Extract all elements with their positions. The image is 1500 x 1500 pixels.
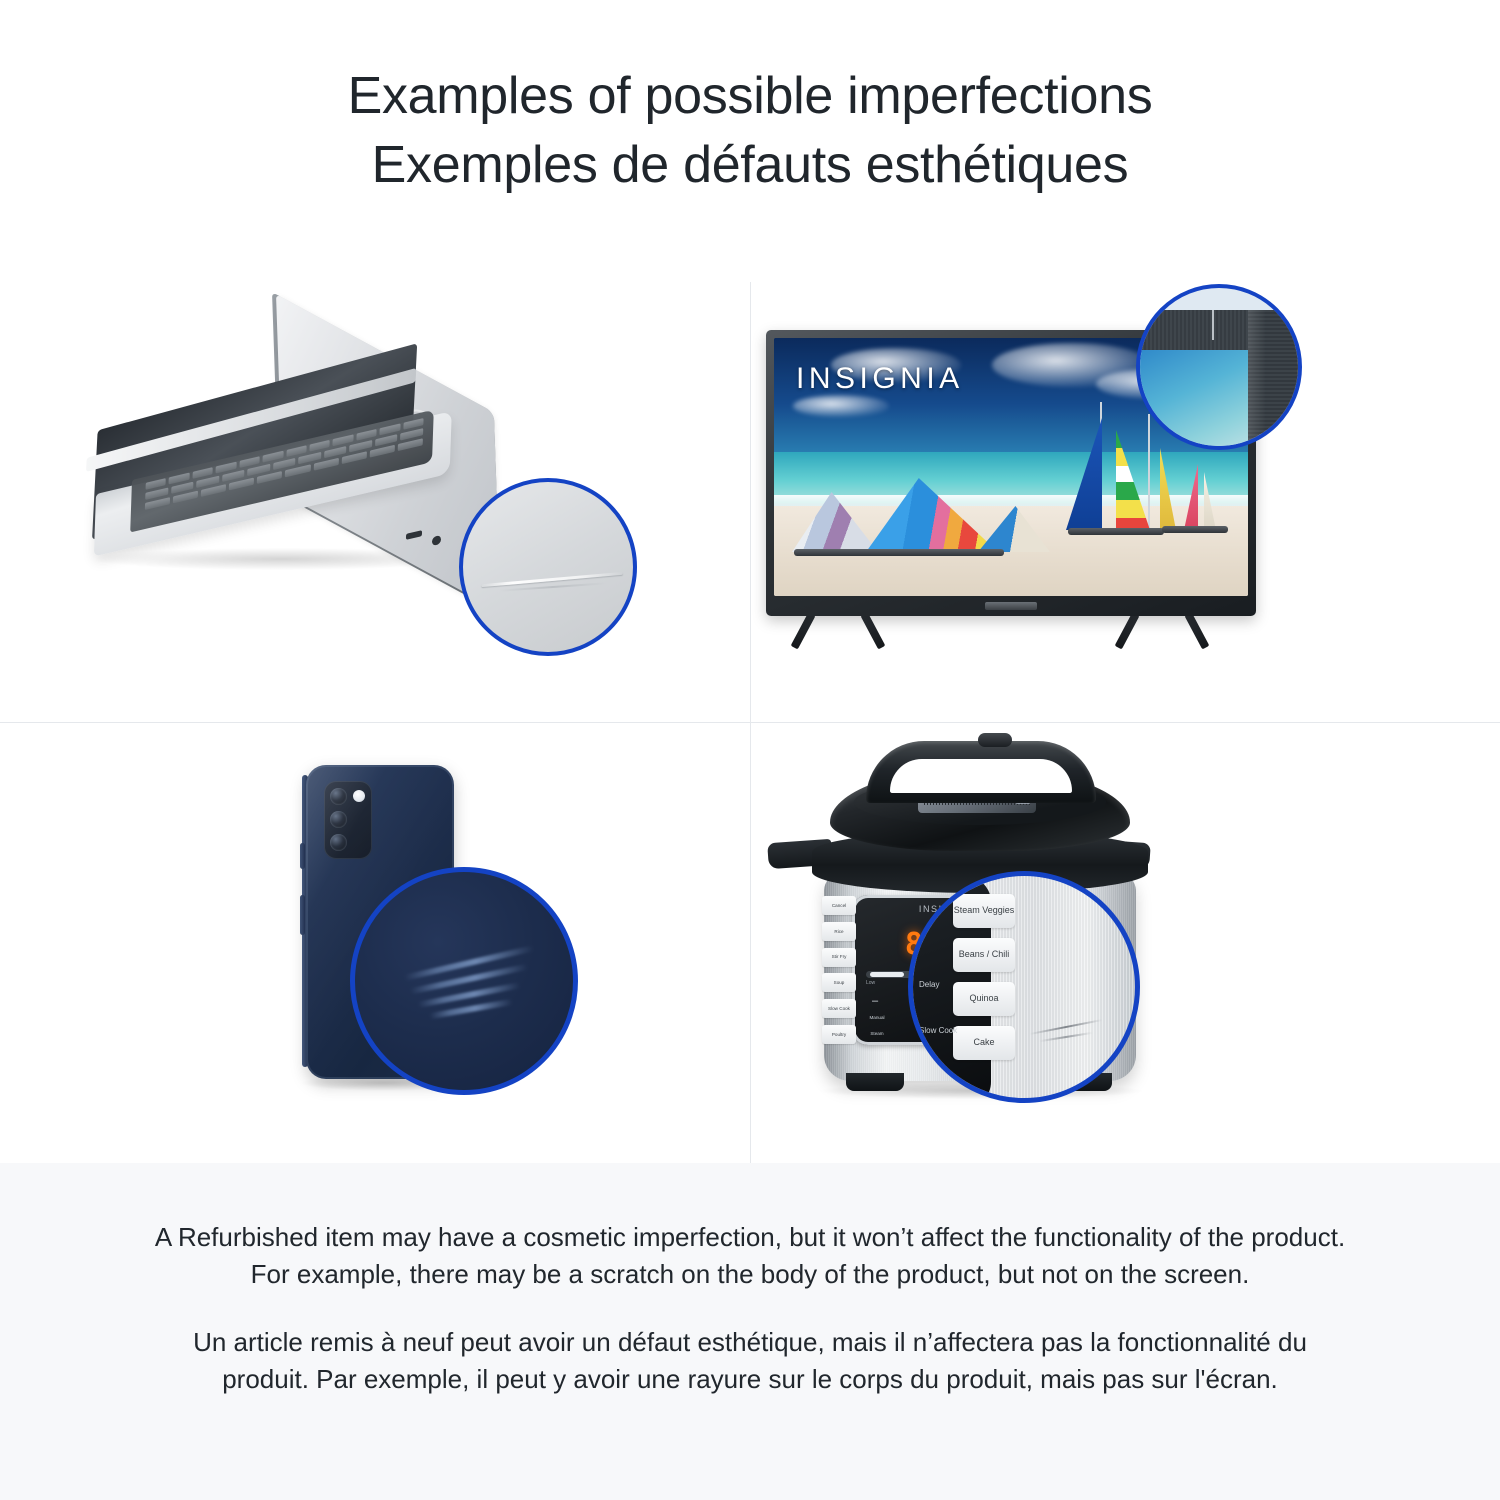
example-cell-laptop	[0, 282, 750, 722]
cooker-key-cancel[interactable]: Cancel	[822, 896, 856, 915]
camera-lens-icon	[330, 811, 347, 828]
television-illustration: INSIGNIA	[750, 282, 1500, 722]
phone-power-button	[300, 895, 305, 935]
cooker-zoom-key-quinoa[interactable]: Quinoa	[953, 982, 1015, 1016]
boat-hull	[1162, 526, 1228, 533]
examples-grid: INSIGNIA	[0, 282, 1500, 1163]
cooker-minus-key[interactable]: –	[872, 995, 878, 1007]
footer-note-panel: A Refurbished item may have a cosmetic i…	[0, 1163, 1500, 1500]
tv-foot-left	[798, 614, 890, 648]
tv-screen-brand-logo: INSIGNIA	[796, 362, 964, 396]
cooker-key-poultry[interactable]: Poultry	[822, 1025, 856, 1044]
tv-corner-bezel-highlight	[1248, 310, 1266, 450]
footer-note-english: A Refurbished item may have a cosmetic i…	[150, 1219, 1350, 1294]
page-header: Examples of possible imperfections Exemp…	[0, 0, 1500, 200]
example-cell-smartphone	[0, 723, 750, 1163]
camera-lens-icon	[330, 788, 347, 805]
cooker-key-manual[interactable]: Manual	[862, 1015, 892, 1026]
page-title-french: Exemples de défauts esthétiques	[0, 131, 1500, 200]
refurbished-imperfections-infographic: Examples of possible imperfections Exemp…	[0, 0, 1500, 1500]
cooker-key-steam[interactable]: Steam	[862, 1031, 892, 1037]
boat-hull	[794, 549, 1004, 556]
pressure-cooker-illustration: INSIGNIA 8:00 Low Normal More Pressure C…	[750, 723, 1500, 1163]
pressure-label: Low	[866, 980, 875, 988]
tv-bezel-stand-bar	[985, 602, 1037, 610]
cooker-zoom-key-beans-chili[interactable]: Beans / Chili	[953, 938, 1015, 972]
laptop-scratch-highlight	[481, 572, 623, 587]
camera-lens-icon	[330, 834, 347, 851]
cooker-left-key-column: Cancel Rice Stir Fry Soup Slow Cook Poul…	[822, 893, 856, 1047]
cooker-base-foot-left	[846, 1073, 904, 1091]
cooker-key-stir-fry[interactable]: Stir Fry	[822, 948, 856, 967]
cooker-key-rice[interactable]: Rice	[822, 922, 856, 941]
magnifier-circle-tv-corner	[1136, 284, 1302, 450]
cooker-key-soup[interactable]: Soup	[822, 973, 856, 992]
magnifier-circle-cooker-body: Steam Veggies Beans / Chili Quinoa Cake …	[908, 871, 1140, 1103]
magnifier-circle-laptop-lid	[459, 478, 637, 656]
laptop-illustration	[0, 282, 750, 722]
example-cell-television: INSIGNIA	[750, 282, 1500, 722]
cooker-key-slow-cook-side[interactable]: Slow Cook	[822, 999, 856, 1018]
footer-note-french: Un article remis à neuf peut avoir un dé…	[150, 1324, 1350, 1399]
phone-volume-button	[300, 843, 305, 869]
cooker-carry-handle-opening	[890, 759, 1072, 793]
page-title-english: Examples of possible imperfections	[348, 67, 1153, 125]
cooker-zoom-key-cake[interactable]: Cake	[953, 1026, 1015, 1060]
boat-hull	[1068, 528, 1164, 535]
example-cell-pressure-cooker: INSIGNIA 8:00 Low Normal More Pressure C…	[750, 723, 1500, 1163]
tv-corner-screen-content	[1136, 348, 1250, 450]
cooker-zoom-key-steam-veggies[interactable]: Steam Veggies	[953, 894, 1015, 928]
cooker-zoom-label-delay: Delay	[919, 980, 939, 989]
smartphone-illustration	[0, 723, 750, 1163]
magnifier-circle-phone-back	[350, 867, 578, 1095]
tv-corner-scratch	[1212, 310, 1214, 340]
phone-camera-module	[324, 781, 372, 859]
cooker-pressure-valve	[978, 733, 1012, 747]
cooker-zoom-label-slow-cook: Slow Cook	[919, 1026, 957, 1035]
page-title: Examples of possible imperfections Exemp…	[0, 62, 1500, 200]
camera-flash-icon	[353, 790, 365, 802]
cooker-zoom-keys: Steam Veggies Beans / Chili Quinoa Cake	[953, 894, 1015, 1090]
tv-foot-right	[1122, 614, 1214, 648]
cloud-shape	[793, 395, 889, 417]
